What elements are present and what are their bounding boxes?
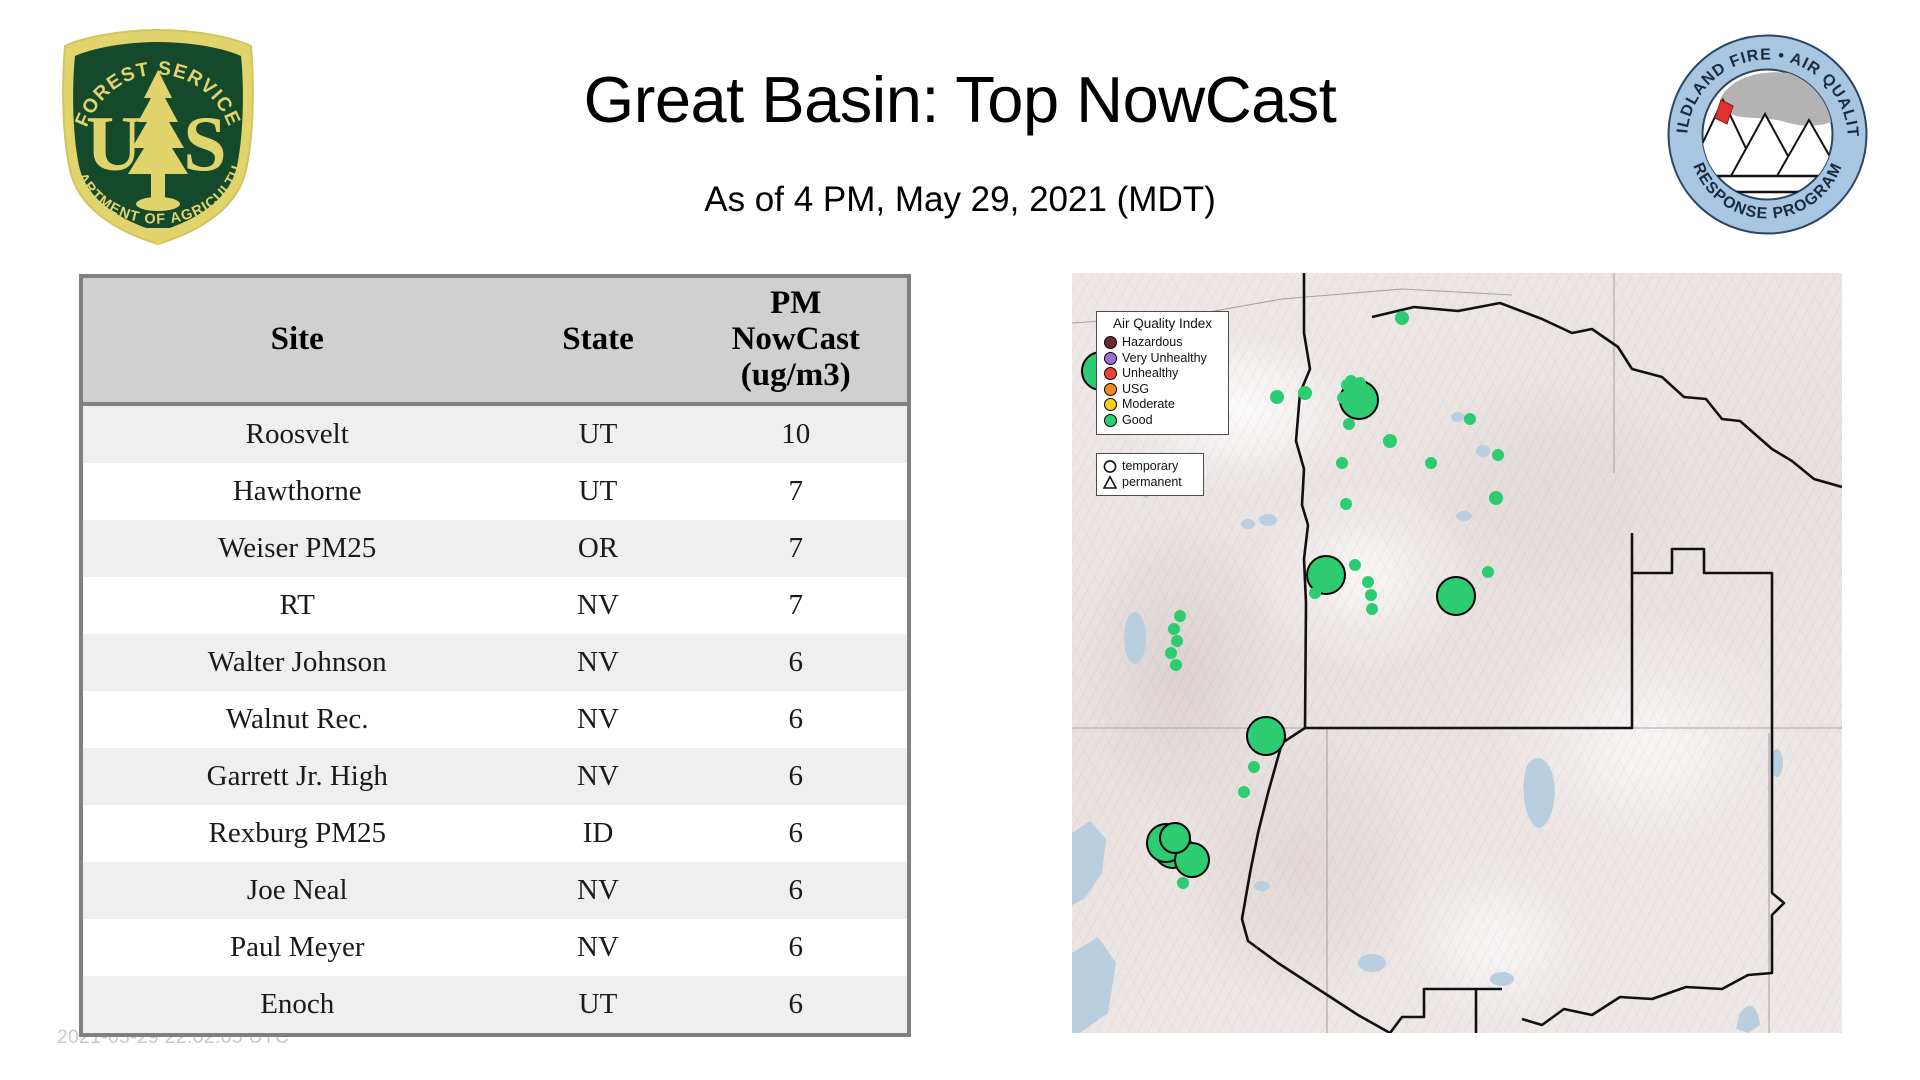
aqi-legend-label: Moderate	[1122, 398, 1175, 411]
table-header-row: Site State PM NowCast (ug/m3)	[83, 278, 907, 404]
site-type-label-permanent: permanent	[1122, 476, 1182, 489]
aqi-legend-label: Hazardous	[1122, 336, 1182, 349]
state-cell: OR	[511, 520, 684, 577]
site-cell: Weiser PM25	[83, 520, 511, 577]
state-cell: NV	[511, 634, 684, 691]
state-cell: ID	[511, 805, 684, 862]
site-type-row-temporary: temporary	[1103, 458, 1197, 474]
table-body: RoosveltUT10HawthorneUT7Weiser PM25OR7RT…	[83, 404, 907, 1033]
monitor-marker[interactable]	[1349, 559, 1361, 571]
aqi-legend: Air Quality Index HazardousVery Unhealth…	[1096, 311, 1229, 435]
monitor-marker[interactable]	[1436, 576, 1476, 616]
aqi-legend-title: Air Quality Index	[1104, 317, 1221, 332]
monitor-marker[interactable]	[1395, 311, 1409, 325]
monitor-marker[interactable]	[1174, 610, 1186, 622]
monitor-marker[interactable]	[1171, 635, 1183, 647]
permanent-triangle-icon	[1103, 475, 1117, 490]
monitor-marker[interactable]	[1365, 589, 1377, 601]
pm-nowcast-cell: 6	[685, 634, 907, 691]
pm-header-line1: PM	[770, 285, 821, 321]
nowcast-table-container: Site State PM NowCast (ug/m3) RoosveltUT…	[79, 274, 911, 1037]
pm-nowcast-cell: 6	[685, 805, 907, 862]
monitor-marker[interactable]	[1489, 491, 1503, 505]
monitor-marker[interactable]	[1366, 603, 1378, 615]
state-cell: UT	[511, 976, 684, 1033]
monitor-marker[interactable]	[1464, 413, 1476, 425]
site-cell: Hawthorne	[83, 463, 511, 520]
aqi-legend-row: Very Unhealthy	[1104, 350, 1221, 366]
table-header: Site State PM NowCast (ug/m3)	[83, 278, 907, 404]
table-row[interactable]: Paul MeyerNV6	[83, 919, 907, 976]
monitor-marker[interactable]	[1170, 659, 1182, 671]
pm-header-line2: NowCast	[732, 321, 860, 357]
aqi-legend-label: USG	[1122, 383, 1149, 396]
site-cell: RT	[83, 577, 511, 634]
state-cell: UT	[511, 404, 684, 463]
pm-nowcast-cell: 6	[685, 976, 907, 1033]
state-cell: NV	[511, 862, 684, 919]
table-row[interactable]: HawthorneUT7	[83, 463, 907, 520]
monitor-marker[interactable]	[1383, 434, 1397, 448]
state-cell: NV	[511, 748, 684, 805]
state-cell: UT	[511, 463, 684, 520]
monitor-marker[interactable]	[1492, 449, 1504, 461]
site-type-label-temporary: temporary	[1122, 460, 1178, 473]
aqi-legend-label: Very Unhealthy	[1122, 352, 1207, 365]
aqi-legend-row: Moderate	[1104, 397, 1221, 413]
site-cell: Walnut Rec.	[83, 691, 511, 748]
monitor-marker[interactable]	[1246, 716, 1286, 756]
monitor-marker[interactable]	[1168, 623, 1180, 635]
site-type-legend: temporary permanent	[1096, 453, 1204, 496]
pm-nowcast-cell: 7	[685, 463, 907, 520]
monitor-marker[interactable]	[1425, 457, 1437, 469]
forest-service-logo: U S FOREST SERVICE DEPARTMENT OF AGRICUL…	[48, 22, 268, 247]
pm-nowcast-cell: 7	[685, 577, 907, 634]
aqi-legend-row: USG	[1104, 381, 1221, 397]
pm-nowcast-cell: 10	[685, 404, 907, 463]
monitor-marker[interactable]	[1337, 392, 1349, 404]
aqi-legend-label: Good	[1122, 414, 1153, 427]
aqi-swatch-icon	[1104, 383, 1117, 396]
state-cell: NV	[511, 577, 684, 634]
state-cell: NV	[511, 691, 684, 748]
monitor-marker[interactable]	[1270, 390, 1284, 404]
table-row[interactable]: EnochUT6	[83, 976, 907, 1033]
aqi-legend-row: Hazardous	[1104, 335, 1221, 351]
monitor-marker[interactable]	[1309, 587, 1321, 599]
monitor-marker[interactable]	[1177, 877, 1189, 889]
pm-nowcast-cell: 6	[685, 919, 907, 976]
site-cell: Joe Neal	[83, 862, 511, 919]
site-cell: Enoch	[83, 976, 511, 1033]
site-cell: Roosvelt	[83, 404, 511, 463]
table-row[interactable]: Rexburg PM25ID6	[83, 805, 907, 862]
site-cell: Rexburg PM25	[83, 805, 511, 862]
map-water-bodies	[1072, 412, 1783, 1033]
page-title: Great Basin: Top NowCast	[300, 62, 1620, 137]
pm-nowcast-cell: 6	[685, 691, 907, 748]
column-header-state[interactable]: State	[511, 278, 684, 404]
monitor-marker[interactable]	[1340, 498, 1352, 510]
monitor-marker[interactable]	[1362, 576, 1374, 588]
monitor-marker[interactable]	[1159, 822, 1191, 854]
pm-header-line3: (ug/m3)	[741, 357, 851, 393]
aqi-legend-label: Unhealthy	[1122, 367, 1178, 380]
pm-nowcast-cell: 6	[685, 862, 907, 919]
aqi-swatch-icon	[1104, 352, 1117, 365]
nowcast-table: Site State PM NowCast (ug/m3) RoosveltUT…	[83, 278, 907, 1033]
pm-nowcast-cell: 7	[685, 520, 907, 577]
column-header-site[interactable]: Site	[83, 278, 511, 404]
slide-root: U S FOREST SERVICE DEPARTMENT OF AGRICUL…	[0, 0, 1920, 1080]
site-cell: Walter Johnson	[83, 634, 511, 691]
air-quality-map[interactable]: Air Quality Index HazardousVery Unhealth…	[1072, 273, 1842, 1033]
site-cell: Garrett Jr. High	[83, 748, 511, 805]
monitor-marker[interactable]	[1238, 786, 1250, 798]
aqi-legend-row: Good	[1104, 412, 1221, 428]
table-row[interactable]: Garrett Jr. HighNV6	[83, 748, 907, 805]
pm-nowcast-cell: 6	[685, 748, 907, 805]
monitor-marker[interactable]	[1336, 457, 1348, 469]
aqi-swatch-icon	[1104, 398, 1117, 411]
aqi-legend-row: Unhealthy	[1104, 366, 1221, 382]
monitor-marker[interactable]	[1354, 377, 1366, 389]
table-row[interactable]: Weiser PM25OR7	[83, 520, 907, 577]
state-cell: NV	[511, 919, 684, 976]
monitor-marker[interactable]	[1298, 386, 1312, 400]
monitor-marker[interactable]	[1343, 418, 1355, 430]
site-cell: Paul Meyer	[83, 919, 511, 976]
temporary-circle-icon	[1103, 459, 1117, 474]
table-row[interactable]: RoosveltUT10	[83, 404, 907, 463]
table-row[interactable]: Walnut Rec.NV6	[83, 691, 907, 748]
table-row[interactable]: Joe NealNV6	[83, 862, 907, 919]
table-row[interactable]: RTNV7	[83, 577, 907, 634]
page-subtitle: As of 4 PM, May 29, 2021 (MDT)	[300, 180, 1620, 220]
site-type-row-permanent: permanent	[1103, 474, 1197, 490]
aqi-swatch-icon	[1104, 414, 1117, 427]
table-row[interactable]: Walter JohnsonNV6	[83, 634, 907, 691]
wfaqrp-logo: WILDLAND FIRE • AIR QUALITY RESPONSE PRO…	[1665, 32, 1870, 237]
monitor-marker[interactable]	[1248, 761, 1260, 773]
map-state-boundaries	[1242, 273, 1842, 1033]
column-header-pm-nowcast[interactable]: PM NowCast (ug/m3)	[685, 278, 907, 404]
aqi-swatch-icon	[1104, 367, 1117, 380]
aqi-swatch-icon	[1104, 336, 1117, 349]
monitor-marker[interactable]	[1165, 647, 1177, 659]
aqi-legend-items: HazardousVery UnhealthyUnhealthyUSGModer…	[1104, 335, 1221, 428]
monitor-marker[interactable]	[1482, 566, 1494, 578]
